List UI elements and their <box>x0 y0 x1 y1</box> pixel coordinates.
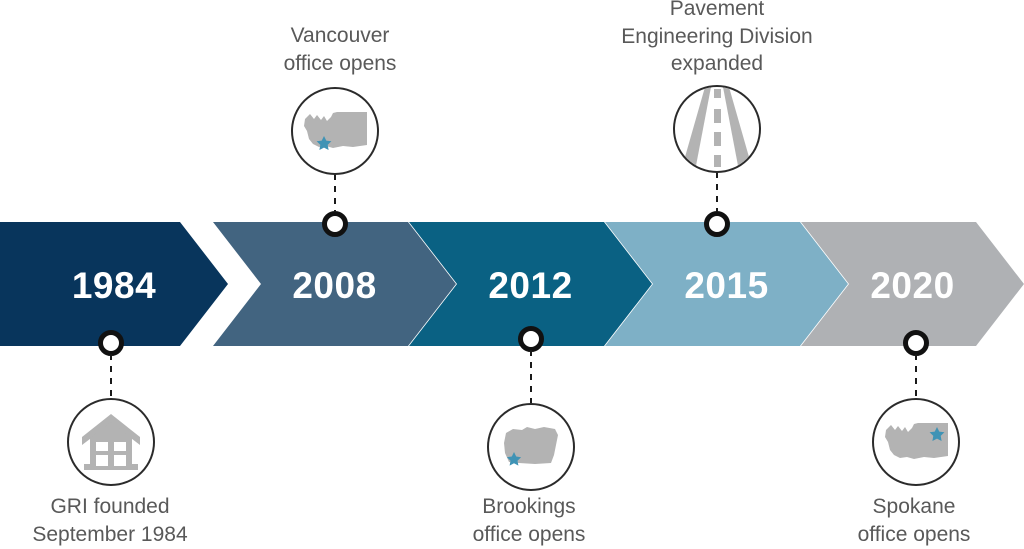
milestone-year-label: 2008 <box>292 267 376 304</box>
connector-ring-2015 <box>704 211 730 237</box>
icon-bubble-2012[interactable] <box>487 403 575 491</box>
connector-ring-2020 <box>903 330 929 356</box>
milestone-caption-2012: Brookings office opens <box>437 493 621 548</box>
building-icon <box>69 400 153 484</box>
connector-line-2008 <box>334 174 336 212</box>
milestone-caption-2020: Spokane office opens <box>822 493 1006 548</box>
connector-ring-2008 <box>322 211 348 237</box>
milestone-year-label: 2012 <box>488 267 572 304</box>
washington-map-spokane-icon <box>874 400 958 484</box>
milestone-year-label: 2020 <box>870 267 954 304</box>
milestone-chevron-1984[interactable]: 1984 <box>0 222 228 346</box>
connector-line-2020 <box>915 354 917 398</box>
icon-bubble-2008[interactable] <box>291 87 379 175</box>
milestone-caption-1984: GRI founded September 1984 <box>10 493 210 548</box>
milestone-year-label: 2015 <box>684 267 768 304</box>
connector-line-2012 <box>530 350 532 403</box>
connector-line-1984 <box>110 354 112 398</box>
icon-bubble-2015[interactable] <box>673 85 761 173</box>
road-icon <box>675 87 759 171</box>
washington-map-vancouver-icon <box>293 89 377 173</box>
timeline-infographic: 1984 2008 2012 2015 2020 <box>0 0 1024 549</box>
connector-ring-1984 <box>98 330 124 356</box>
milestone-year-label: 1984 <box>72 267 156 304</box>
connector-ring-2012 <box>518 326 544 352</box>
milestone-caption-2008: Vancouver office opens <box>248 22 432 77</box>
milestone-chevron-2008[interactable]: 2008 <box>213 222 456 346</box>
connector-line-2015 <box>716 172 718 212</box>
milestone-caption-2015: Pavement Engineering Division expanded <box>603 0 831 78</box>
icon-bubble-2020[interactable] <box>872 398 960 486</box>
oregon-map-brookings-icon <box>489 405 573 489</box>
icon-bubble-1984[interactable] <box>67 398 155 486</box>
